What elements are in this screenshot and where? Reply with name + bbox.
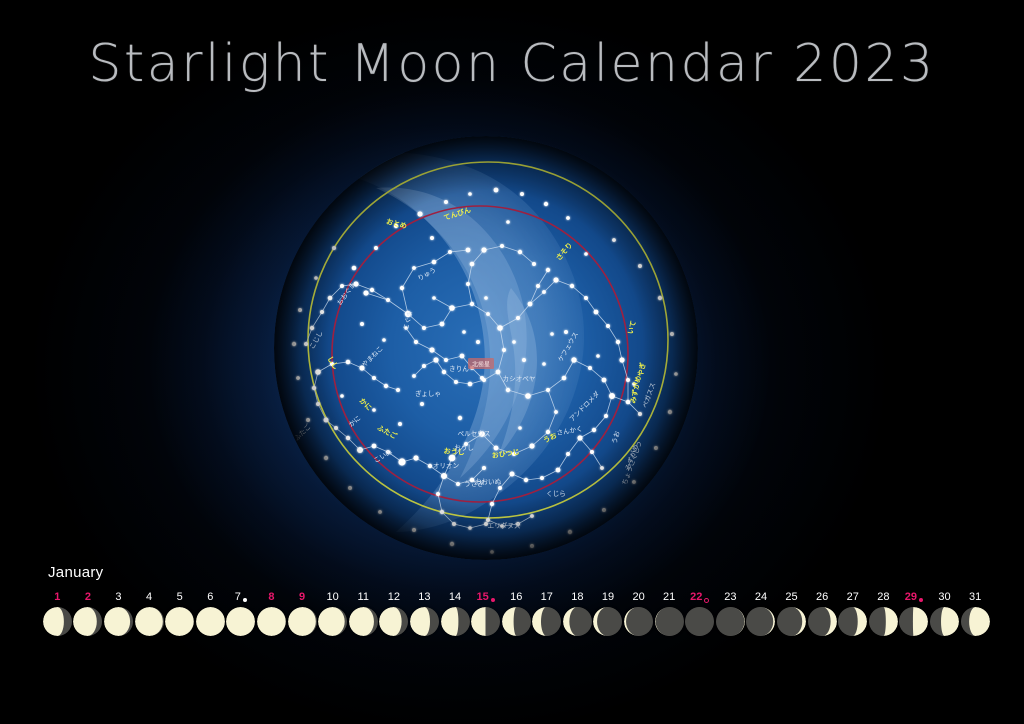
calendar-day[interactable]: 11 xyxy=(348,590,379,636)
calendar-day[interactable]: 10 xyxy=(317,590,348,636)
day-number: 5 xyxy=(177,590,183,604)
calendar-day[interactable]: 14 xyxy=(440,590,471,636)
moon-phase-icon xyxy=(471,607,500,636)
moon-phase-icon xyxy=(961,607,990,636)
calendar-day[interactable]: 17 xyxy=(532,590,563,636)
moon-phase-row: 1234567891011121314151617181920212223242… xyxy=(42,590,1002,642)
calendar-day[interactable]: 24 xyxy=(746,590,777,636)
day-number: 28 xyxy=(877,590,889,604)
day-number: 29 xyxy=(905,590,923,604)
phase-marker-newm-icon xyxy=(704,598,709,603)
calendar-day[interactable]: 26 xyxy=(807,590,838,636)
day-number: 25 xyxy=(785,590,797,604)
moon-phase-icon xyxy=(104,607,133,636)
calendar-day[interactable]: 9 xyxy=(287,590,318,636)
moon-phase-icon xyxy=(563,607,592,636)
day-number: 2 xyxy=(85,590,91,604)
day-number: 10 xyxy=(327,590,339,604)
moon-phase-icon xyxy=(410,607,439,636)
moon-phase-icon xyxy=(226,607,255,636)
day-number: 30 xyxy=(938,590,950,604)
star-chart: ぎょしゃペルセウスカシオペヤケフェウスアンドロメダさんかくきりんこぐまりゅうこじ… xyxy=(256,128,716,568)
moon-phase-icon xyxy=(746,607,775,636)
calendar-day[interactable]: 6 xyxy=(195,590,226,636)
moon-phase-icon xyxy=(43,607,72,636)
calendar-day[interactable]: 23 xyxy=(715,590,746,636)
moon-phase-icon xyxy=(349,607,378,636)
day-number: 9 xyxy=(299,590,305,604)
calendar-day[interactable]: 1 xyxy=(42,590,73,636)
day-number: 24 xyxy=(755,590,767,604)
day-number: 12 xyxy=(388,590,400,604)
day-number: 3 xyxy=(115,590,121,604)
moon-phase-icon xyxy=(808,607,837,636)
calendar-day[interactable]: 27 xyxy=(837,590,868,636)
moon-phase-icon xyxy=(502,607,531,636)
calendar-day[interactable]: 13 xyxy=(409,590,440,636)
star-chart-svg: ぎょしゃペルセウスカシオペヤケフェウスアンドロメダさんかくきりんこぐまりゅうこじ… xyxy=(256,128,716,568)
day-number: 11 xyxy=(358,590,369,604)
phase-marker-quarter-icon xyxy=(491,598,495,602)
calendar-day[interactable]: 28 xyxy=(868,590,899,636)
moon-phase-icon xyxy=(869,607,898,636)
day-number: 6 xyxy=(207,590,213,604)
calendar-day[interactable]: 5 xyxy=(164,590,195,636)
moon-phase-icon xyxy=(532,607,561,636)
moon-phase-icon xyxy=(655,607,684,636)
phase-marker-full-icon xyxy=(243,598,247,602)
day-number: 19 xyxy=(602,590,614,604)
page-title: Starlight Moon Calendar 2023 xyxy=(0,34,1024,94)
day-number: 23 xyxy=(724,590,736,604)
moon-phase-icon xyxy=(624,607,653,636)
sky-edge-fade xyxy=(274,136,698,560)
calendar-day[interactable]: 30 xyxy=(929,590,960,636)
calendar-day[interactable]: 4 xyxy=(134,590,165,636)
moon-phase-icon xyxy=(196,607,225,636)
calendar-day[interactable]: 29 xyxy=(899,590,930,636)
calendar-day[interactable]: 15 xyxy=(470,590,501,636)
moon-phase-icon xyxy=(838,607,867,636)
day-number: 18 xyxy=(571,590,583,604)
calendar-day[interactable]: 22 xyxy=(684,590,715,636)
moon-phase-icon xyxy=(288,607,317,636)
day-number: 4 xyxy=(146,590,152,604)
calendar-day[interactable]: 31 xyxy=(960,590,991,636)
calendar-day[interactable]: 20 xyxy=(623,590,654,636)
day-number: 1 xyxy=(54,590,60,604)
calendar-day[interactable]: 19 xyxy=(593,590,624,636)
moon-phase-icon xyxy=(593,607,622,636)
calendar-day[interactable]: 8 xyxy=(256,590,287,636)
calendar-day[interactable]: 12 xyxy=(379,590,410,636)
moon-phase-icon xyxy=(685,607,714,636)
constellation-label: ほうおう xyxy=(573,542,599,550)
moon-phase-icon xyxy=(441,607,470,636)
day-number: 31 xyxy=(969,590,981,604)
calendar-day[interactable]: 25 xyxy=(776,590,807,636)
day-number: 16 xyxy=(510,590,522,604)
moon-phase-icon xyxy=(716,607,745,636)
moon-phase-icon xyxy=(165,607,194,636)
day-number: 7 xyxy=(235,590,247,604)
sky-disc: ぎょしゃペルセウスカシオペヤケフェウスアンドロメダさんかくきりんこぐまりゅうこじ… xyxy=(274,136,698,560)
calendar-day[interactable]: 16 xyxy=(501,590,532,636)
calendar-day[interactable]: 7 xyxy=(226,590,257,636)
moon-phase-icon xyxy=(930,607,959,636)
month-label: January xyxy=(48,564,103,581)
moon-phase-icon xyxy=(257,607,286,636)
calendar-day[interactable]: 18 xyxy=(562,590,593,636)
day-number: 21 xyxy=(663,590,675,604)
calendar-day[interactable]: 2 xyxy=(73,590,104,636)
moon-phase-icon xyxy=(135,607,164,636)
day-number: 15 xyxy=(476,590,494,604)
moon-phase-icon xyxy=(777,607,806,636)
moon-phase-icon xyxy=(899,607,928,636)
calendar-day[interactable]: 3 xyxy=(103,590,134,636)
day-number: 14 xyxy=(449,590,461,604)
moon-phase-icon xyxy=(73,607,102,636)
moon-phase-icon xyxy=(318,607,347,636)
moon-phase-icon xyxy=(379,607,408,636)
day-number: 22 xyxy=(690,590,709,604)
phase-marker-quarter-icon xyxy=(919,598,923,602)
day-number: 20 xyxy=(632,590,644,604)
day-number: 26 xyxy=(816,590,828,604)
day-number: 27 xyxy=(847,590,859,604)
day-number: 8 xyxy=(268,590,274,604)
day-number: 13 xyxy=(418,590,430,604)
calendar-day[interactable]: 21 xyxy=(654,590,685,636)
day-number: 17 xyxy=(541,590,553,604)
